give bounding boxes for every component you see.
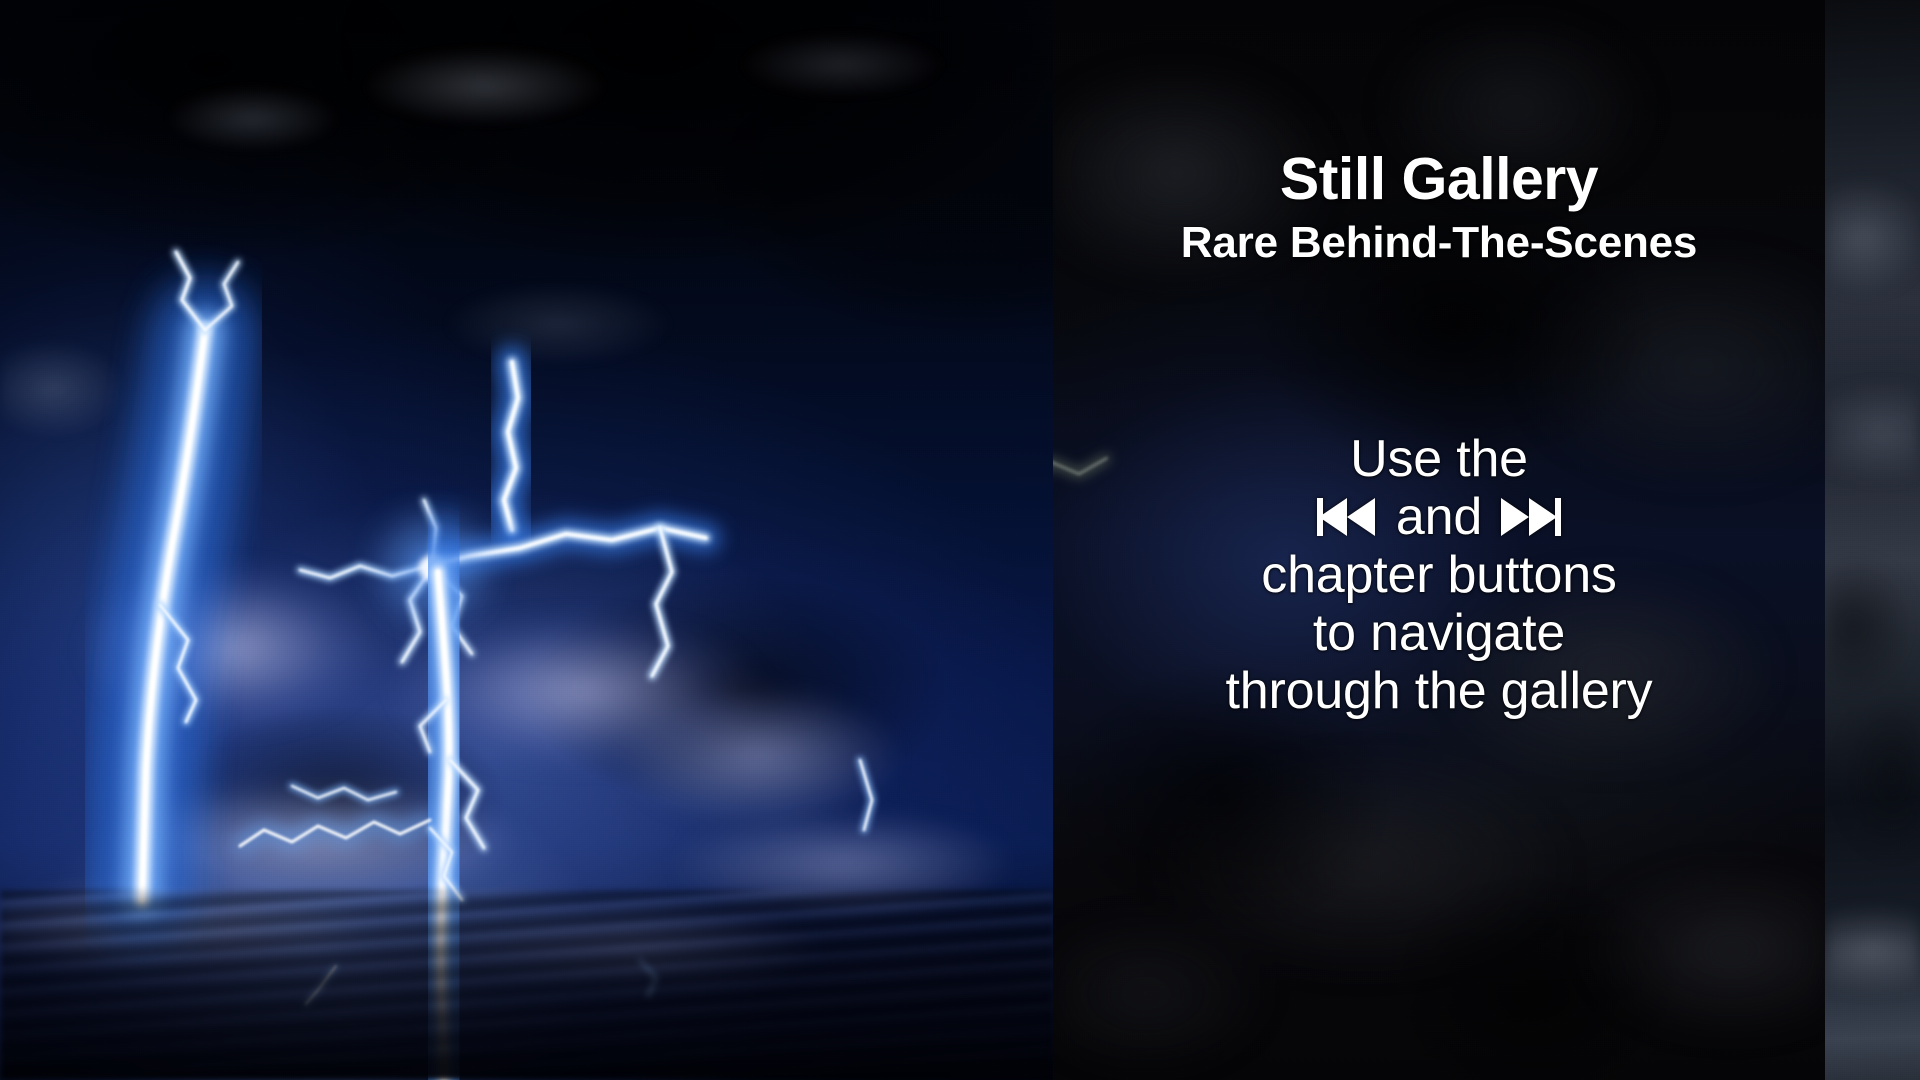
horizon-cloud-streaks bbox=[0, 890, 1053, 1080]
dark-storm-sky-backdrop bbox=[1053, 0, 1825, 1080]
strip-cloud-texture bbox=[1825, 0, 1920, 1080]
lightning-storm-photo bbox=[0, 0, 1053, 1080]
grey-cloud-strip bbox=[1825, 0, 1920, 1080]
faint-bolt-horizontal bbox=[1053, 458, 1107, 486]
faint-lightning-graphic bbox=[1053, 0, 1825, 1080]
bolt-left-main bbox=[142, 252, 238, 900]
dvd-menu-screen: Still Gallery Rare Behind-The-Scenes Use… bbox=[0, 0, 1920, 1080]
bolt-upper-centre bbox=[504, 362, 518, 530]
